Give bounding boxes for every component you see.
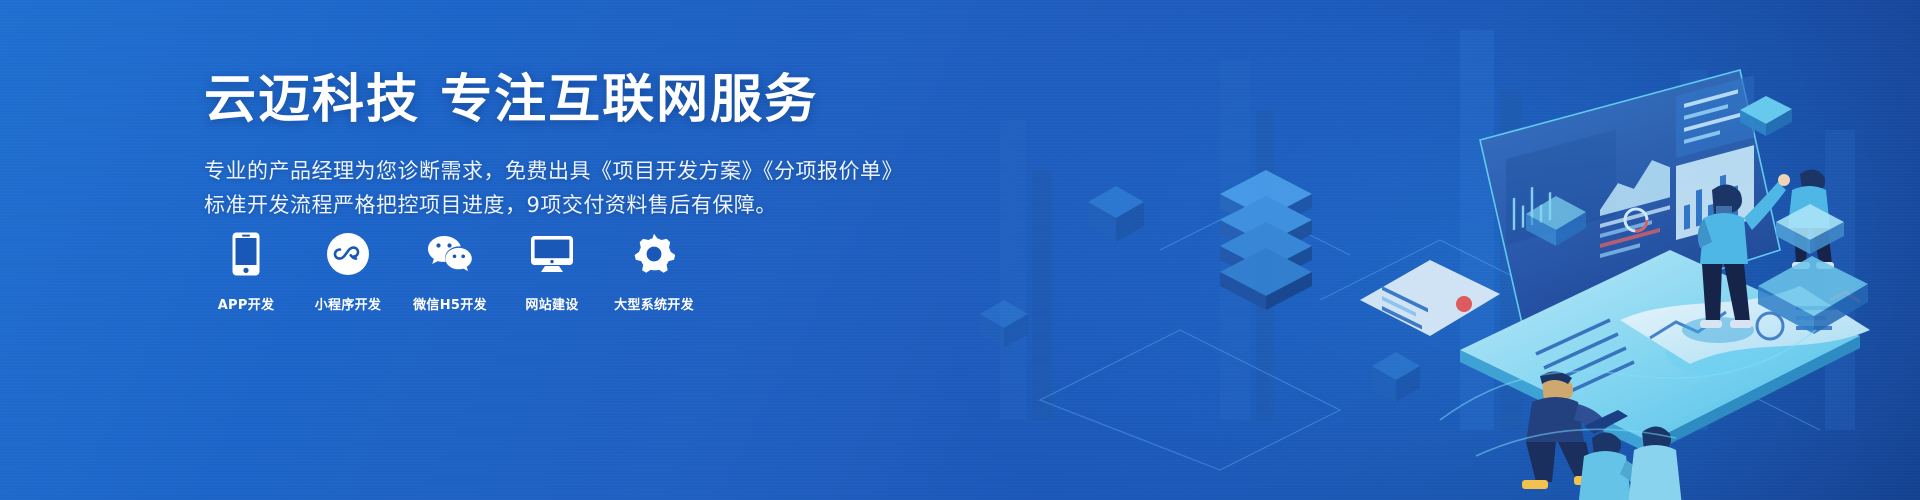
smartphone-icon — [232, 232, 260, 276]
hero-copy: 云迈科技 专注互联网服务 专业的产品经理为您诊断需求，免费出具《项目开发方案》《… — [204, 68, 904, 222]
service-item-app[interactable]: APP开发 — [206, 232, 286, 313]
service-list: APP开发 小程序开发 — [206, 232, 694, 313]
service-item-large-system[interactable]: 大型系统开发 — [614, 232, 694, 313]
page-title: 云迈科技 专注互联网服务 — [204, 68, 904, 132]
miniprogram-icon — [327, 232, 369, 276]
service-label: 网站建设 — [525, 294, 578, 313]
service-item-miniprogram[interactable]: 小程序开发 — [308, 232, 388, 313]
subtitle-line-1: 专业的产品经理为您诊断需求，免费出具《项目开发方案》《分项报价单》 — [204, 154, 904, 188]
service-item-website[interactable]: 网站建设 — [512, 232, 592, 313]
illustration-isometric-data-dashboard — [920, 0, 1920, 500]
hero-banner: 云迈科技 专注互联网服务 专业的产品经理为您诊断需求，免费出具《项目开发方案》《… — [0, 0, 1920, 500]
service-label: APP开发 — [218, 294, 275, 313]
service-item-wechat-h5[interactable]: 微信H5开发 — [410, 232, 490, 313]
hero-subtitle: 专业的产品经理为您诊断需求，免费出具《项目开发方案》《分项报价单》 标准开发流程… — [204, 154, 904, 222]
service-label: 小程序开发 — [315, 294, 382, 313]
gear-icon — [633, 232, 675, 276]
wechat-icon — [427, 232, 473, 276]
monitor-icon — [530, 232, 574, 276]
service-label: 大型系统开发 — [614, 294, 694, 313]
subtitle-line-2: 标准开发流程严格把控项目进度，9项交付资料售后有保障。 — [204, 188, 904, 222]
service-label: 微信H5开发 — [413, 294, 487, 313]
